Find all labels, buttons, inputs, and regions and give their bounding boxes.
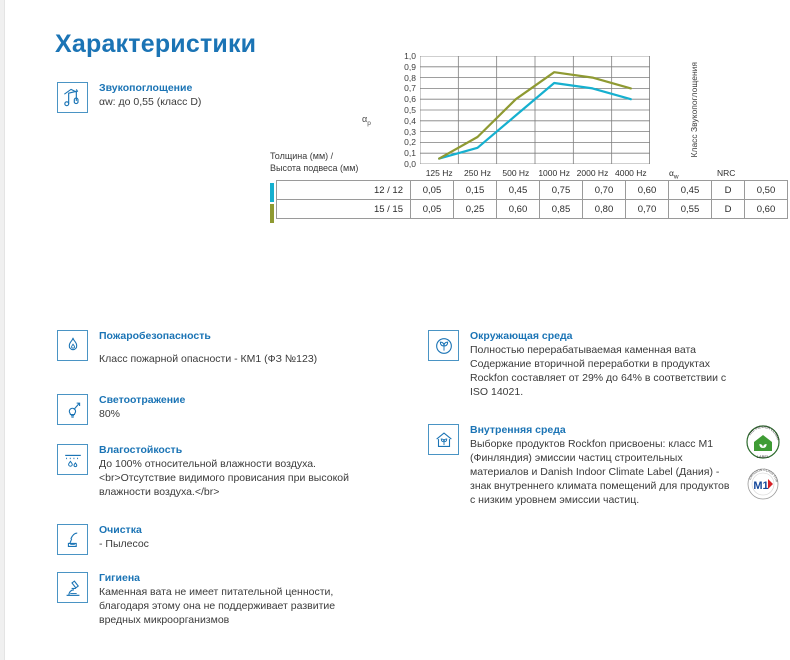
feature-cleaning: Очистка - Пылесос	[57, 524, 357, 555]
music-note-icon	[57, 82, 88, 113]
series-swatch-row1	[270, 183, 274, 202]
chart-y-tick: 0,4	[404, 116, 416, 126]
table-cell: 0,70	[583, 181, 626, 200]
feature-environment: Окружающая среда Полностью перерабатывае…	[428, 330, 728, 399]
chart-class-axis-label: Класс Звукопоглощения	[689, 62, 699, 157]
chart-y-axis-label: αp	[362, 114, 371, 127]
feature-body: До 100% относительной влажности воздуха.…	[99, 457, 357, 499]
table-cell: 0,15	[454, 181, 497, 200]
series-swatch-row2	[270, 204, 274, 223]
table-cell: D	[712, 200, 745, 219]
table-cell: 0,70	[626, 200, 669, 219]
table-row: 15 / 150,050,250,600,850,800,700,55D0,60	[277, 200, 788, 219]
feature-indoor-environment: Внутренняя среда Выборке продуктов Rockf…	[428, 424, 733, 507]
house-leaf-icon	[428, 424, 459, 455]
table-cell: 0,80	[583, 200, 626, 219]
feature-title: Окружающая среда	[470, 330, 728, 343]
sound-absorption-title: Звукопоглощение	[99, 82, 201, 95]
table-cell: 0,60	[626, 181, 669, 200]
feature-body: - Пылесос	[99, 537, 149, 551]
chart-y-tick: 0,9	[404, 62, 416, 72]
table-cell: 0,05	[411, 200, 454, 219]
feature-title: Внутренняя среда	[470, 424, 733, 437]
absorption-chart: αp 1,00,90,80,70,60,50,40,30,20,10,0 125…	[362, 28, 782, 163]
table-cell: 0,85	[540, 200, 583, 219]
m1-emission-class-badge: M1 EMISSION CLASS FOR	[742, 464, 784, 504]
table-row-header-line2: Высота подвеса (мм)	[270, 162, 400, 174]
feature-light-reflection: Светоотражение 80%	[57, 394, 367, 425]
feature-sound-absorption: Звукопоглощение αw: до 0,55 (класс D)	[57, 82, 201, 113]
feature-body: Выборке продуктов Rockfon присвоены: кла…	[470, 437, 733, 507]
table-row-header-line1: Толщина (мм) /	[270, 150, 400, 162]
svg-text:M1: M1	[753, 480, 768, 492]
table-row: 12 / 120,050,150,450,750,700,600,45D0,50	[277, 181, 788, 200]
feature-body: Полностью перерабатываемая каменная вата…	[470, 343, 728, 399]
flame-icon	[57, 330, 88, 361]
table-row-header: Толщина (мм) / Высота подвеса (мм)	[270, 148, 400, 180]
chart-y-tick: 1,0	[404, 51, 416, 61]
specification-table: Толщина (мм) / Высота подвеса (мм) 12 / …	[270, 148, 770, 219]
feature-title: Гигиена	[99, 572, 367, 585]
feature-title: Светоотражение	[99, 394, 185, 407]
indoor-climate-label-badge: THE INDOOR CLIMATE LABEL	[742, 422, 784, 462]
feature-hygiene: Гигиена Каменная вата не имеет питательн…	[57, 572, 367, 627]
table-cell: 0,60	[497, 200, 540, 219]
feature-title: Пожаробезопасность	[99, 330, 317, 343]
vacuum-cleaner-icon	[57, 524, 88, 555]
chart-y-tick: 0,8	[404, 73, 416, 83]
table-cell: 0,55	[669, 200, 712, 219]
chart-y-tick: 0,2	[404, 137, 416, 147]
feature-humidity-resistance: Влагостойкость До 100% относительной вла…	[57, 444, 357, 499]
table-cell: 0,45	[497, 181, 540, 200]
page-edge-strip	[0, 0, 5, 660]
feature-fire-safety: Пожаробезопасность Класс пожарной опасно…	[57, 330, 367, 366]
svg-text:LABEL: LABEL	[757, 454, 770, 459]
table-cell-thickness: 12 / 12	[277, 181, 411, 200]
humidity-icon	[57, 444, 88, 475]
feature-body: Класс пожарной опасности - КМ1 (ФЗ №123)	[99, 352, 317, 366]
chart-y-tick: 0,3	[404, 127, 416, 137]
feature-title: Влагостойкость	[99, 444, 357, 457]
table-cell: 0,75	[540, 181, 583, 200]
table-cell: 0,60	[745, 200, 788, 219]
microscope-icon	[57, 572, 88, 603]
table-cell: 0,25	[454, 200, 497, 219]
spec-table: 12 / 120,050,150,450,750,700,600,45D0,50…	[276, 180, 788, 219]
page-title: Характеристики	[55, 30, 256, 59]
feature-body: Каменная вата не имеет питательной ценно…	[99, 585, 367, 627]
sound-absorption-value: αw: до 0,55 (класс D)	[99, 95, 201, 109]
table-cell: 0,50	[745, 181, 788, 200]
feature-body: 80%	[99, 407, 185, 421]
table-cell: 0,45	[669, 181, 712, 200]
chart-y-tick: 0,7	[404, 83, 416, 93]
table-cell: D	[712, 181, 745, 200]
table-cell-thickness: 15 / 15	[277, 200, 411, 219]
certification-badges: THE INDOOR CLIMATE LABEL M1 EMISSION CLA…	[742, 422, 786, 506]
chart-y-tick: 0,6	[404, 94, 416, 104]
characteristics-page: Характеристики Звукопоглощение αw: до 0,…	[0, 0, 790, 660]
table-cell: 0,05	[411, 181, 454, 200]
feature-title: Очистка	[99, 524, 149, 537]
light-reflection-icon	[57, 394, 88, 425]
chart-y-tick: 0,5	[404, 105, 416, 115]
leaf-circle-icon	[428, 330, 459, 361]
